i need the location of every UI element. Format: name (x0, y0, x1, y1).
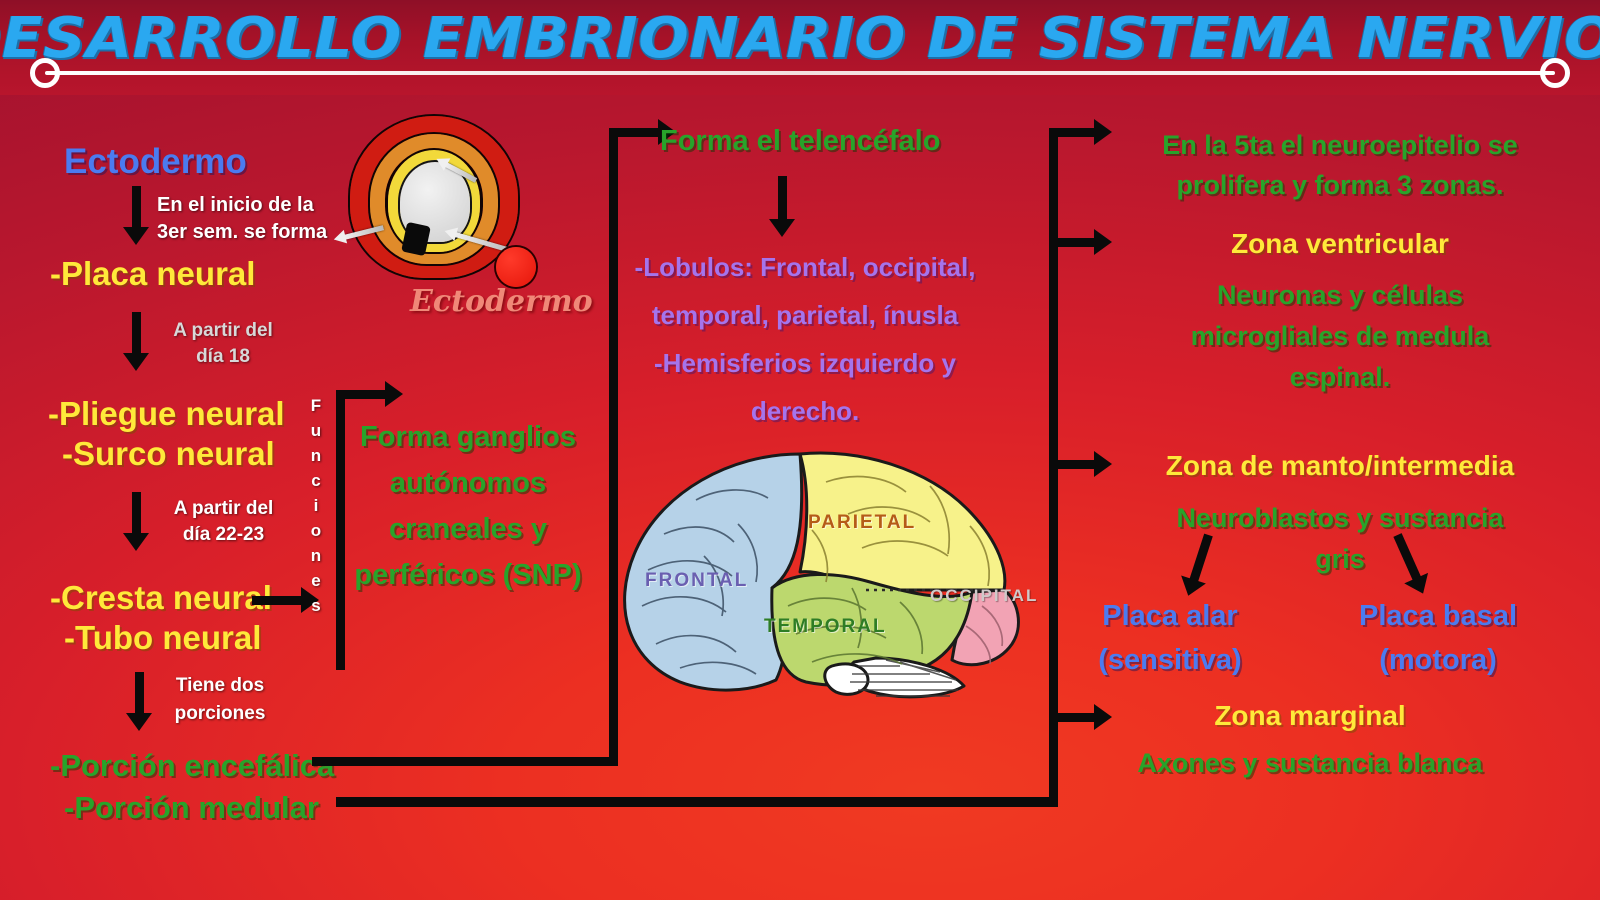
plate-placa-basal: Placa basal (motora) (1338, 594, 1538, 682)
funciones-letter: i (314, 493, 319, 518)
middle-heading-telencefalo: Forma el telencéfalo (660, 125, 940, 158)
step-cresta-tubo-neural: -Cresta neural -Tubo neural (50, 578, 272, 658)
zone-desc-manto: Neuroblastos y sustancia gris (1090, 498, 1590, 580)
arrow-cresta-to-funciones (252, 596, 302, 605)
funciones-letter: n (311, 443, 321, 468)
funciones-letter: c (311, 468, 320, 493)
brain-label-temporal: TEMPORAL (764, 616, 887, 638)
note-inicio-3er-semana: En el inicio de la 3er sem. se forma (157, 192, 327, 246)
funciones-letter: e (311, 568, 320, 593)
arrow-placa-to-pliegue (132, 312, 141, 354)
middle-detail-lobulos: -Lobulos: Frontal, occipital, temporal, … (610, 243, 1000, 435)
arrow-tubo-to-porciones (135, 672, 144, 714)
step-placa-neural: -Placa neural (50, 255, 255, 293)
page-title: DESARROLLO EMBRIONARIO DE SISTEMA NERVIO… (0, 6, 1600, 71)
infographic-page: DESARROLLO EMBRIONARIO DE SISTEMA NERVIO… (0, 0, 1600, 900)
note-dia-22-23: A partir del día 22-23 (156, 496, 291, 548)
zone-title-ventricular: Zona ventricular (1090, 228, 1590, 260)
arrow-to-neuroepitelio (1049, 128, 1095, 137)
embryo-pointer-dot-icon (496, 247, 536, 287)
funciones-letter: o (311, 518, 321, 543)
arrow-to-telencefalo (609, 128, 659, 137)
right-intro-neuroepitelio: En la 5ta el neuroepitelio se prolifera … (1090, 125, 1590, 205)
step-pliegue-surco-neural: -Pliegue neural -Surco neural (48, 394, 285, 474)
embryo-label-ectodermo: Ectodermo (410, 284, 593, 319)
connector-porciones-to-right (336, 797, 1058, 807)
funciones-letter: u (311, 418, 321, 443)
brain-label-parietal: PARIETAL (808, 512, 916, 534)
arrow-telencefalo-to-lobulos (778, 176, 787, 220)
arrow-surco-to-cresta (132, 492, 141, 534)
brain-label-occipital: OCCIPITAL (930, 586, 1038, 606)
step-porciones: -Porción encefálica -Porción medular (50, 745, 334, 829)
arrow-to-zona-ventricular (1049, 238, 1095, 247)
plate-placa-alar: Placa alar (sensitiva) (1070, 594, 1270, 682)
rule-endcap-left-icon (30, 58, 60, 88)
arrow-funciones-to-ganglios (336, 390, 386, 399)
funciones-letter: n (311, 543, 321, 568)
left-heading-ectodermo: Ectodermo (64, 142, 247, 182)
funciones-letter: F (311, 393, 321, 418)
zone-desc-ventricular: Neuronas y células microgliales de medul… (1090, 275, 1590, 398)
embryo-cross-section-figure: Ectodermo (348, 112, 528, 292)
connector-funciones-vertical (336, 390, 345, 670)
zone-desc-marginal: Axones y sustancia blanca (1020, 748, 1600, 779)
connector-porciones-to-middle (312, 757, 618, 766)
funciones-text-block: Forma ganglios autónomos craneales y per… (348, 414, 588, 598)
zone-title-marginal: Zona marginal (1090, 700, 1530, 732)
note-dia-18: A partir del día 18 (158, 318, 288, 370)
title-bar: DESARROLLO EMBRIONARIO DE SISTEMA NERVIO… (0, 0, 1600, 95)
funciones-letter: s (311, 593, 320, 618)
brain-svg (600, 430, 1050, 700)
brain-lobes-figure: FRONTAL PARIETAL TEMPORAL OCCIPITAL (600, 430, 1050, 700)
zone-title-manto: Zona de manto/intermedia (1090, 450, 1590, 482)
rule-endcap-right-icon (1540, 58, 1570, 88)
brain-label-frontal: FRONTAL (645, 570, 748, 592)
arrow-ectodermo-to-placa (132, 186, 141, 228)
arrow-to-zona-manto (1049, 460, 1095, 469)
title-underline-rule (45, 71, 1555, 75)
funciones-vertical-label: F u n c i o n e s (303, 393, 329, 618)
note-tiene-dos-porciones: Tiene dos porciones (160, 672, 280, 728)
arrow-to-zona-marginal (1049, 713, 1095, 722)
